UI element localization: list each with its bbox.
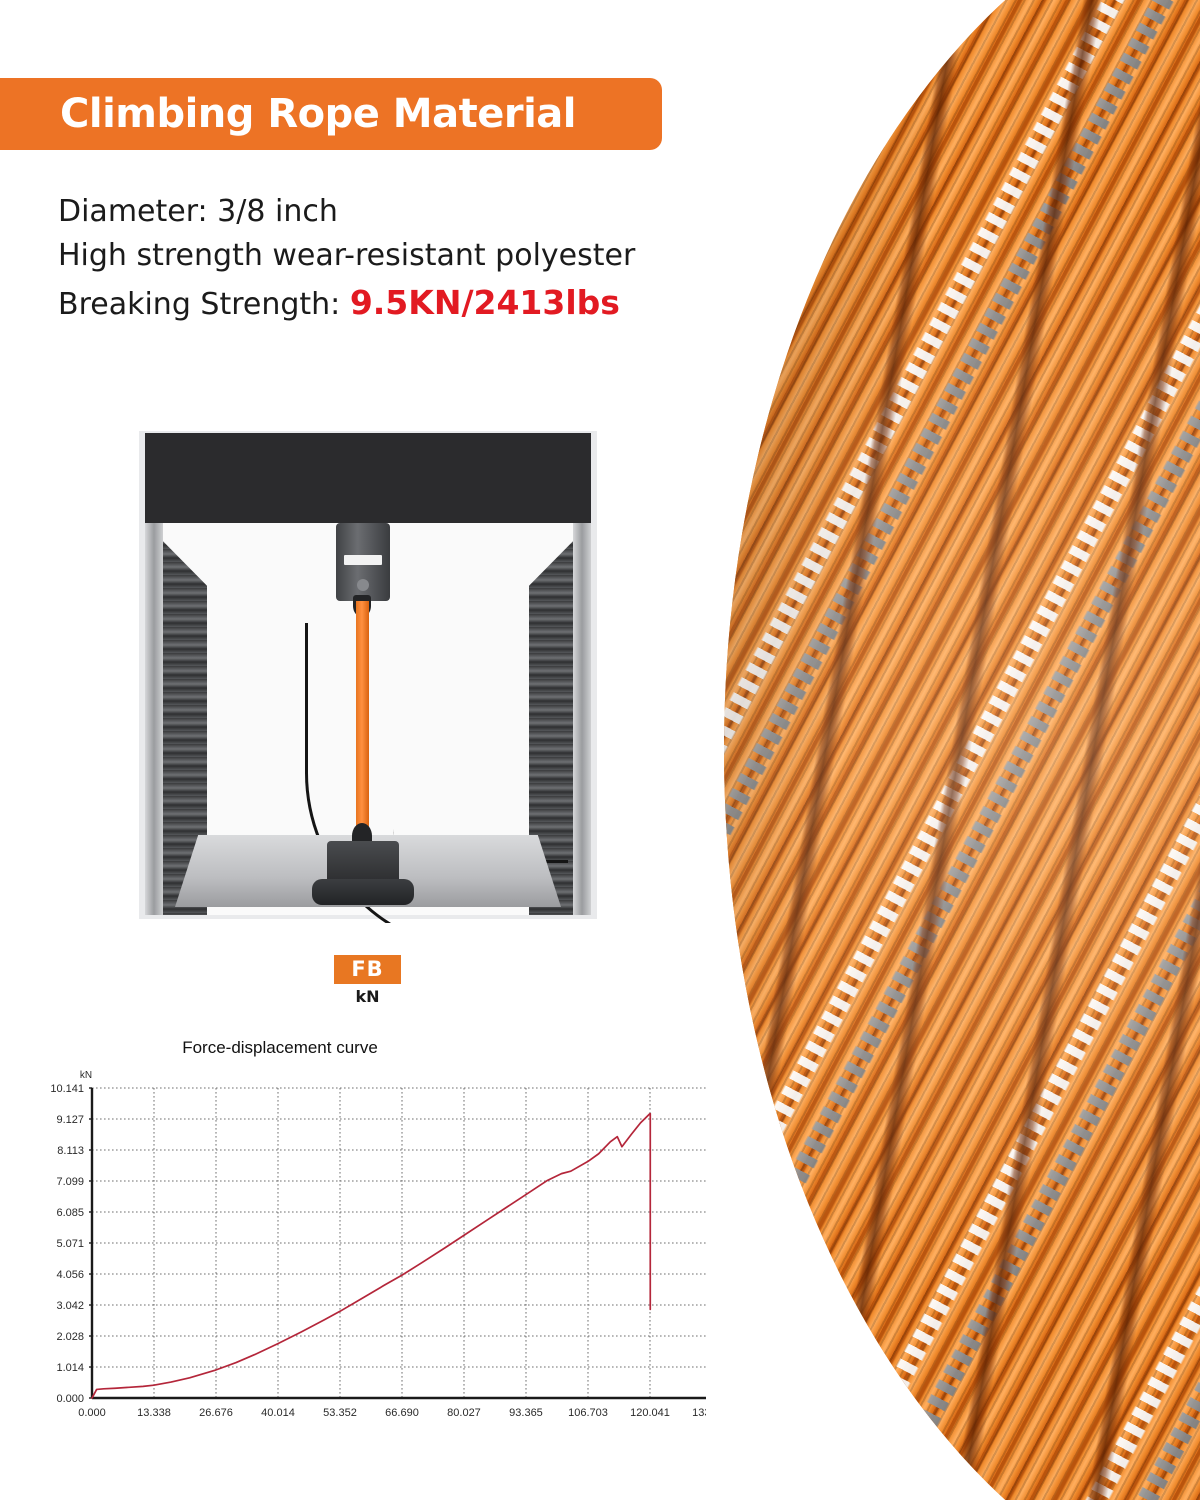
x-axis-tick-label: 93.365 [509,1407,543,1419]
title-banner: Climbing Rope Material [0,78,662,150]
y-axis-tick-label: 0.000 [56,1393,84,1405]
y-axis-unit-label: kN [80,1070,92,1081]
spec-diameter: Diameter: 3/8 inch [58,190,718,234]
y-axis-tick-label: 4.056 [56,1269,84,1281]
left-content-column: Climbing Rope Material Diameter: 3/8 inc… [0,0,730,1500]
machine-crossbeam [145,433,591,523]
breaking-strength-label: Breaking Strength: [58,287,350,322]
x-axis-tick-label: 80.027 [447,1407,481,1419]
y-axis-tick-label: 5.071 [56,1238,84,1250]
load-cell-flange [312,879,414,905]
grip-slot [344,555,382,565]
y-axis-tick-label: 6.085 [56,1207,84,1219]
spec-material: High strength wear-resistant polyester [58,234,718,278]
rope-shading [724,0,1200,1500]
page-title: Climbing Rope Material [0,91,576,137]
breaking-strength-value: 9.5KN/2413lbs [350,283,620,322]
grip-bolt [357,579,369,591]
curve-force-displacement [92,1114,650,1398]
x-axis-tick-label: 26.676 [199,1407,233,1419]
product-infographic-page: Climbing Rope Material Diameter: 3/8 inc… [0,0,1200,1500]
y-axis-tick-label: 8.113 [57,1145,84,1157]
x-axis-tick-label: 53.352 [323,1407,357,1419]
force-displacement-chart: Force-displacement curve 0.0001.0142.028… [0,1030,760,1450]
x-axis-tick-label: 13.338 [137,1407,171,1419]
x-axis-tick-label: 120.041 [630,1407,670,1419]
rope-coil [724,0,1200,1500]
fb-caption: FB kN [131,955,604,1006]
x-axis-tick-label: 40.014 [261,1407,295,1419]
spec-list: Diameter: 3/8 inch High strength wear-re… [58,190,718,328]
spec-breaking-strength: Breaking Strength: 9.5KN/2413lbs [58,279,718,328]
y-axis-tick-label: 3.042 [56,1300,84,1312]
y-axis-tick-label: 1.014 [56,1362,84,1374]
y-axis-tick-label: 2.028 [56,1331,84,1343]
fb-unit-label: kN [131,987,604,1006]
x-axis-tick-label: 66.690 [385,1407,419,1419]
tensile-test-machine-photo [131,427,604,923]
fb-badge: FB [334,955,400,984]
upper-grip [336,523,390,601]
chamber-rail-left [145,523,163,915]
rope-specimen [356,601,369,831]
x-axis-tick-label: 0.000 [78,1407,106,1419]
chamber-rail-right [573,523,591,915]
y-axis-tick-label: 10.141 [50,1083,84,1095]
y-axis-tick-label: 7.099 [56,1176,84,1188]
rope-product-photo [706,0,1200,1500]
chart-canvas: 0.0001.0142.0283.0424.0565.0716.0857.099… [0,1030,760,1450]
x-axis-tick-label: 106.703 [568,1407,608,1419]
y-axis-tick-label: 9.127 [56,1114,84,1126]
